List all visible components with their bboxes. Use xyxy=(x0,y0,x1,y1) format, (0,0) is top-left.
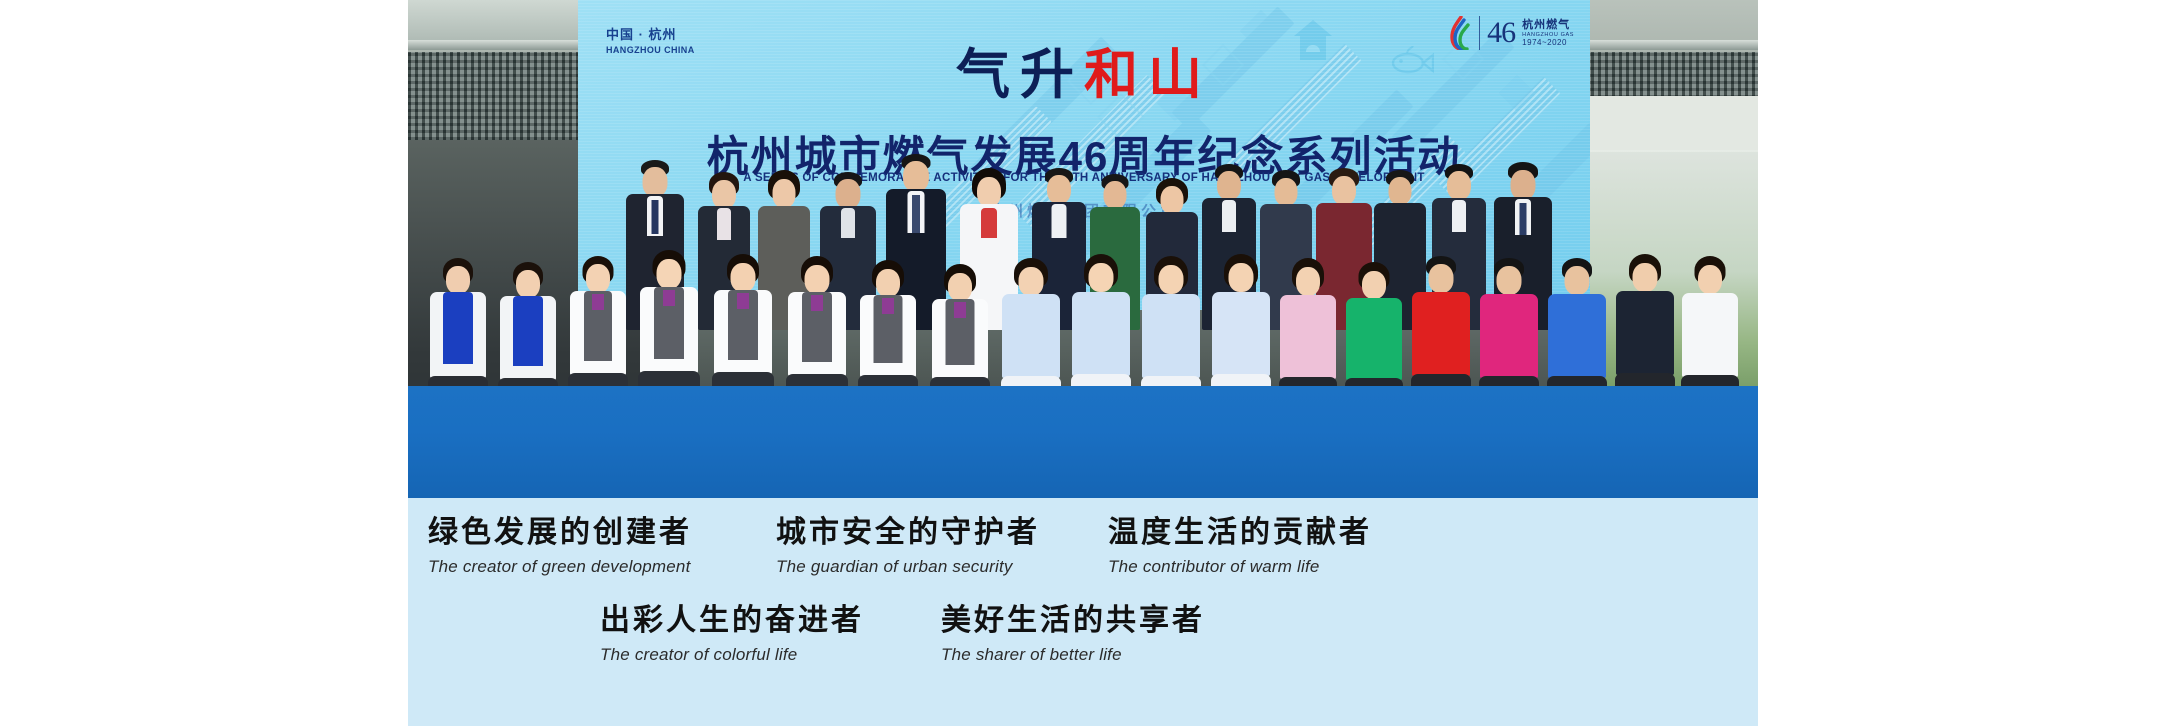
slogan-5-en: The sharer of better life xyxy=(941,645,1205,665)
slogan-panel: 绿色发展的创建者 The creator of green developmen… xyxy=(408,498,1758,726)
location-cn: 中国 · 杭州 xyxy=(606,26,695,44)
slogan-4-cn: 出彩人生的奋进者 xyxy=(600,604,864,639)
flame-icon xyxy=(1450,16,1472,50)
slogan-3-en: The contributor of warm life xyxy=(1108,557,1372,577)
artistic-title-part1: 气升 xyxy=(956,45,1084,105)
artistic-title: 气升和山 xyxy=(578,48,1590,102)
slogan-1: 绿色发展的创建者 The creator of green developmen… xyxy=(428,516,692,577)
content-column: 中国 · 杭州 HANGZHOU CHINA 46 xyxy=(408,0,1758,726)
slogan-5: 美好生活的共享者 The sharer of better life xyxy=(941,604,1205,665)
slogan-4-en: The creator of colorful life xyxy=(600,645,864,665)
slogan-5-cn: 美好生活的共享者 xyxy=(941,604,1205,639)
logo-company-cn: 杭州燃气 xyxy=(1522,19,1574,32)
slogan-2-cn: 城市安全的守护者 xyxy=(776,516,1040,551)
slogan-2: 城市安全的守护者 The guardian of urban security xyxy=(776,516,1040,577)
blue-stage-floor xyxy=(408,386,1758,498)
logo-company-en: HANGZHOU GAS xyxy=(1522,32,1574,38)
slogan-1-en: The creator of green development xyxy=(428,557,692,577)
event-group-photo: 中国 · 杭州 HANGZHOU CHINA 46 xyxy=(408,0,1758,498)
venue-ceiling xyxy=(1578,96,1758,152)
artistic-title-part2: 和山 xyxy=(1084,45,1212,105)
logo-divider xyxy=(1479,16,1480,50)
slogan-2-en: The guardian of urban security xyxy=(776,557,1040,577)
page-root: 中国 · 杭州 HANGZHOU CHINA 46 xyxy=(0,0,2179,726)
slogan-3-cn: 温度生活的贡献者 xyxy=(1108,516,1372,551)
logo-years: 1974~2020 xyxy=(1522,38,1574,47)
hangzhou-gas-logo: 46 杭州燃气 HANGZHOU GAS 1974~2020 xyxy=(1450,16,1574,50)
logo-wordmark: 杭州燃气 HANGZHOU GAS 1974~2020 xyxy=(1522,19,1574,47)
slogan-4: 出彩人生的奋进者 The creator of colorful life xyxy=(600,604,864,665)
logo-anniversary-number: 46 xyxy=(1487,18,1515,48)
slogan-1-cn: 绿色发展的创建者 xyxy=(428,516,692,551)
slogan-3: 温度生活的贡献者 The contributor of warm life xyxy=(1108,516,1372,577)
